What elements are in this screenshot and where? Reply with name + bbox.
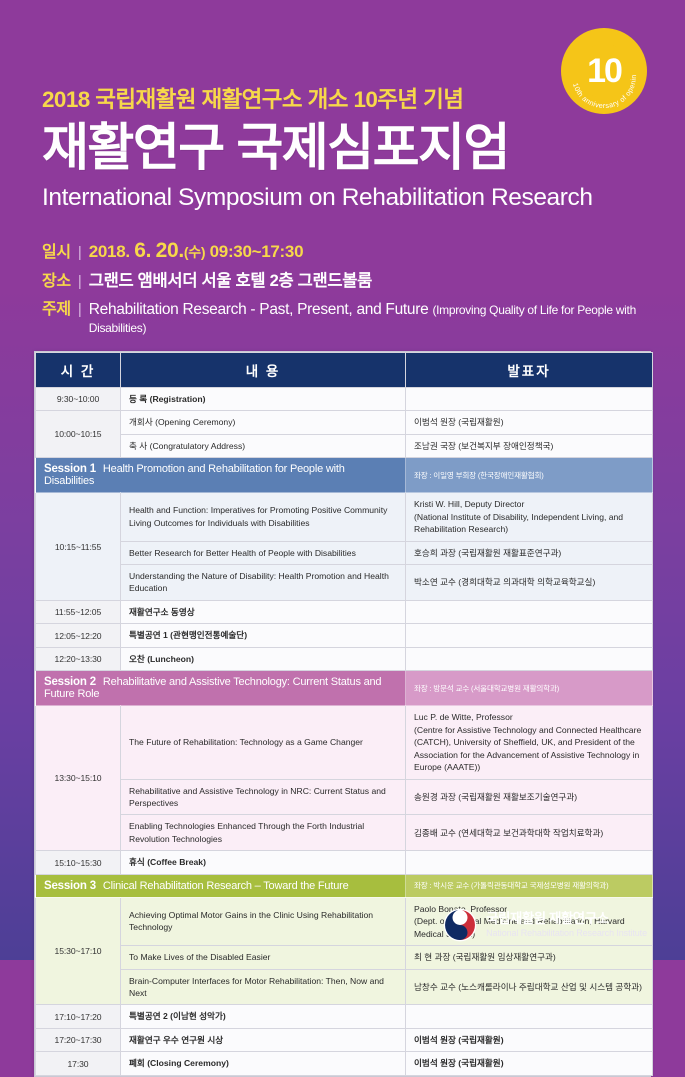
table-row: 13:30~15:10The Future of Rehabilitation:…	[36, 706, 653, 779]
session-header-row: Session 2Rehabilitative and Assistive Te…	[36, 671, 653, 706]
table-row: Understanding the Nature of Disability: …	[36, 564, 653, 600]
date-year: 2018.	[89, 242, 130, 261]
anniversary-number: 10	[587, 54, 621, 88]
theme-value: Rehabilitation Research - Past, Present,…	[89, 301, 685, 337]
schedule-table-head: 시 간 내 용 발표자	[36, 352, 653, 387]
schedule-time-cell: 13:30~15:10	[36, 706, 121, 851]
schedule-speaker-cell	[406, 1005, 653, 1028]
schedule-table: 시 간 내 용 발표자 9:30~10:00등 록 (Registration)…	[35, 352, 653, 1076]
schedule-speaker-cell: 조남권 국장 (보건복지부 장애인정책국)	[406, 434, 653, 457]
info-separator: |	[78, 301, 82, 318]
date-label: 일시	[42, 238, 71, 262]
schedule-speaker-cell: 이범석 원장 (국립재활원)	[406, 411, 653, 434]
schedule-content-cell: Achieving Optimal Motor Gains in the Cli…	[121, 897, 406, 945]
schedule-time-cell: 17:30	[36, 1052, 121, 1075]
schedule-time-cell: 11:55~12:05	[36, 600, 121, 623]
anniversary-badge: 10th anniversary of opening 10	[561, 28, 647, 114]
schedule-speaker-cell: Luc P. de Witte, Professor(Centre for As…	[406, 706, 653, 779]
schedule-content-cell: Brain-Computer Interfaces for Motor Reha…	[121, 969, 406, 1005]
table-row: 11:55~12:05재활연구소 동영상	[36, 600, 653, 623]
schedule-speaker-cell: 남창수 교수 (노스캐롤라이나 주립대학교 산업 및 시스템 공학과)	[406, 969, 653, 1005]
session-header-row: Session 3Clinical Rehabilitation Researc…	[36, 874, 653, 897]
schedule-speaker-cell: 김종배 교수 (연세대학교 보건과학대학 작업치료학과)	[406, 815, 653, 851]
session-number: Session 1	[44, 463, 96, 475]
table-row: 17:20~17:30재활연구 우수 연구원 시상이범석 원장 (국립재활원)	[36, 1028, 653, 1051]
schedule-time-cell: 10:15~11:55	[36, 493, 121, 601]
table-row: 9:30~10:00등 록 (Registration)	[36, 387, 653, 410]
schedule-speaker-cell	[406, 851, 653, 874]
schedule-time-cell: 10:00~10:15	[36, 411, 121, 458]
column-header-time: 시 간	[36, 352, 121, 387]
schedule-speaker-cell: 이범석 원장 (국립재활원)	[406, 1028, 653, 1051]
table-row: 축 사 (Congratulatory Address)조남권 국장 (보건복지…	[36, 434, 653, 457]
theme-main: Rehabilitation Research - Past, Present,…	[89, 301, 429, 318]
schedule-content-cell: Enabling Technologies Enhanced Through t…	[121, 815, 406, 851]
table-row: Better Research for Better Health of Peo…	[36, 541, 653, 564]
schedule-time-cell: 17:20~17:30	[36, 1028, 121, 1051]
session-title-cell: Session 2Rehabilitative and Assistive Te…	[36, 671, 406, 706]
table-row: 10:00~10:15개회사 (Opening Ceremony)이범석 원장 …	[36, 411, 653, 434]
page-title: 재활연구 국제심포지엄	[42, 119, 685, 176]
session-number: Session 2	[44, 676, 96, 688]
schedule-time-cell: 12:20~13:30	[36, 647, 121, 670]
schedule-speaker-cell	[406, 624, 653, 647]
schedule-speaker-cell: 호승희 과장 (국립재활원 재활표준연구과)	[406, 541, 653, 564]
schedule-content-cell: Better Research for Better Health of Peo…	[121, 541, 406, 564]
table-row: 12:05~12:20특별공연 1 (관현맹인전통예술단)	[36, 624, 653, 647]
date-time-range: 09:30~17:30	[210, 242, 304, 261]
footer-org-kr: 국립재활원 재활연구소	[486, 911, 647, 928]
schedule-content-cell: 축 사 (Congratulatory Address)	[121, 434, 406, 457]
session-chair-cell: 좌장 : 이일영 부회장 (한국장애인재활협회)	[406, 458, 653, 493]
date-value: 2018. 6. 20.(수) 09:30~17:30	[89, 239, 303, 263]
date-day: 20.	[156, 239, 184, 262]
schedule-content-cell: 등 록 (Registration)	[121, 387, 406, 410]
schedule-content-cell: Health and Function: Imperatives for Pro…	[121, 493, 406, 541]
schedule-time-cell: 9:30~10:00	[36, 387, 121, 410]
footer-text-block: 국립재활원 재활연구소 National Rehabilitation Rese…	[486, 911, 647, 939]
page-subtitle: International Symposium on Rehabilitatio…	[42, 185, 685, 212]
info-separator: |	[78, 244, 82, 261]
table-row: 10:15~11:55Health and Function: Imperati…	[36, 493, 653, 541]
table-row: 15:10~15:30휴식 (Coffee Break)	[36, 851, 653, 874]
column-header-content: 내 용	[121, 352, 406, 387]
schedule-table-wrapper: 시 간 내 용 발표자 9:30~10:00등 록 (Registration)…	[34, 351, 651, 1077]
date-month: 6.	[134, 239, 151, 262]
schedule-content-cell: The Future of Rehabilitation: Technology…	[121, 706, 406, 779]
session-chair-cell: 좌장 : 박시운 교수 (가톨릭관동대학교 국제성모병원 재활의학과)	[406, 874, 653, 897]
anniversary-inner-disc: 10	[577, 44, 631, 98]
table-header-row: 시 간 내 용 발표자	[36, 352, 653, 387]
footer-org-en: National Rehabilitation Research Institu…	[486, 928, 647, 939]
table-row: 12:20~13:30오찬 (Luncheon)	[36, 647, 653, 670]
table-row: Brain-Computer Interfaces for Motor Reha…	[36, 969, 653, 1005]
schedule-time-cell: 12:05~12:20	[36, 624, 121, 647]
table-row: 17:10~17:20특별공연 2 (이남현 성악가)	[36, 1005, 653, 1028]
schedule-table-body: 9:30~10:00등 록 (Registration)10:00~10:15개…	[36, 387, 653, 1075]
place-value: 그랜드 앰배서더 서울 호텔 2층 그랜드볼룸	[89, 267, 372, 291]
info-row-date: 일시 | 2018. 6. 20.(수) 09:30~17:30	[42, 238, 685, 263]
info-separator: |	[78, 273, 82, 290]
table-row: Enabling Technologies Enhanced Through t…	[36, 815, 653, 851]
schedule-speaker-cell: 이범석 원장 (국립재활원)	[406, 1052, 653, 1075]
info-row-place: 장소 | 그랜드 앰배서더 서울 호텔 2층 그랜드볼룸	[42, 267, 685, 291]
schedule-speaker-cell: 최 현 과장 (국립재활원 임상재활연구과)	[406, 946, 653, 969]
info-row-theme: 주제 | Rehabilitation Research - Past, Pre…	[42, 295, 685, 337]
schedule-content-cell: 재활연구소 동영상	[121, 600, 406, 623]
schedule-content-cell: 폐회 (Closing Ceremony)	[121, 1052, 406, 1075]
session-number: Session 3	[44, 880, 96, 892]
schedule-speaker-cell	[406, 600, 653, 623]
session-topic: Clinical Rehabilitation Research – Towar…	[103, 880, 349, 892]
theme-label: 주제	[42, 295, 71, 319]
schedule-time-cell: 15:10~15:30	[36, 851, 121, 874]
footer-logo: 국립재활원 재활연구소 National Rehabilitation Rese…	[443, 908, 647, 942]
taeguk-emblem-icon	[443, 908, 477, 942]
session-header-row: Session 1Health Promotion and Rehabilita…	[36, 458, 653, 493]
schedule-time-cell: 15:30~17:10	[36, 897, 121, 1005]
schedule-content-cell: 재활연구 우수 연구원 시상	[121, 1028, 406, 1051]
schedule-content-cell: 특별공연 2 (이남현 성악가)	[121, 1005, 406, 1028]
schedule-speaker-cell: 송원경 과장 (국립재활원 재활보조기술연구과)	[406, 779, 653, 815]
table-row: To Make Lives of the Disabled Easier최 현 …	[36, 946, 653, 969]
schedule-content-cell: 특별공연 1 (관현맹인전통예술단)	[121, 624, 406, 647]
schedule-time-cell: 17:10~17:20	[36, 1005, 121, 1028]
session-chair-cell: 좌장 : 방문석 교수 (서울대학교병원 재활의학과)	[406, 671, 653, 706]
date-weekday: (수)	[184, 244, 205, 260]
schedule-content-cell: Rehabilitative and Assistive Technology …	[121, 779, 406, 815]
schedule-speaker-cell: Kristi W. Hill, Deputy Director(National…	[406, 493, 653, 541]
schedule-speaker-cell: 박소연 교수 (경희대학교 의과대학 의학교육학교실)	[406, 564, 653, 600]
schedule-content-cell: To Make Lives of the Disabled Easier	[121, 946, 406, 969]
session-title-cell: Session 3Clinical Rehabilitation Researc…	[36, 874, 406, 897]
column-header-speaker: 발표자	[406, 352, 653, 387]
schedule-content-cell: 오찬 (Luncheon)	[121, 647, 406, 670]
schedule-content-cell: 휴식 (Coffee Break)	[121, 851, 406, 874]
schedule-speaker-cell	[406, 387, 653, 410]
event-info: 일시 | 2018. 6. 20.(수) 09:30~17:30 장소 | 그랜…	[0, 212, 685, 337]
place-label: 장소	[42, 267, 71, 291]
schedule-content-cell: Understanding the Nature of Disability: …	[121, 564, 406, 600]
schedule-speaker-cell	[406, 647, 653, 670]
session-title-cell: Session 1Health Promotion and Rehabilita…	[36, 458, 406, 493]
table-row: 17:30폐회 (Closing Ceremony)이범석 원장 (국립재활원)	[36, 1052, 653, 1075]
table-row: Rehabilitative and Assistive Technology …	[36, 779, 653, 815]
schedule-content-cell: 개회사 (Opening Ceremony)	[121, 411, 406, 434]
